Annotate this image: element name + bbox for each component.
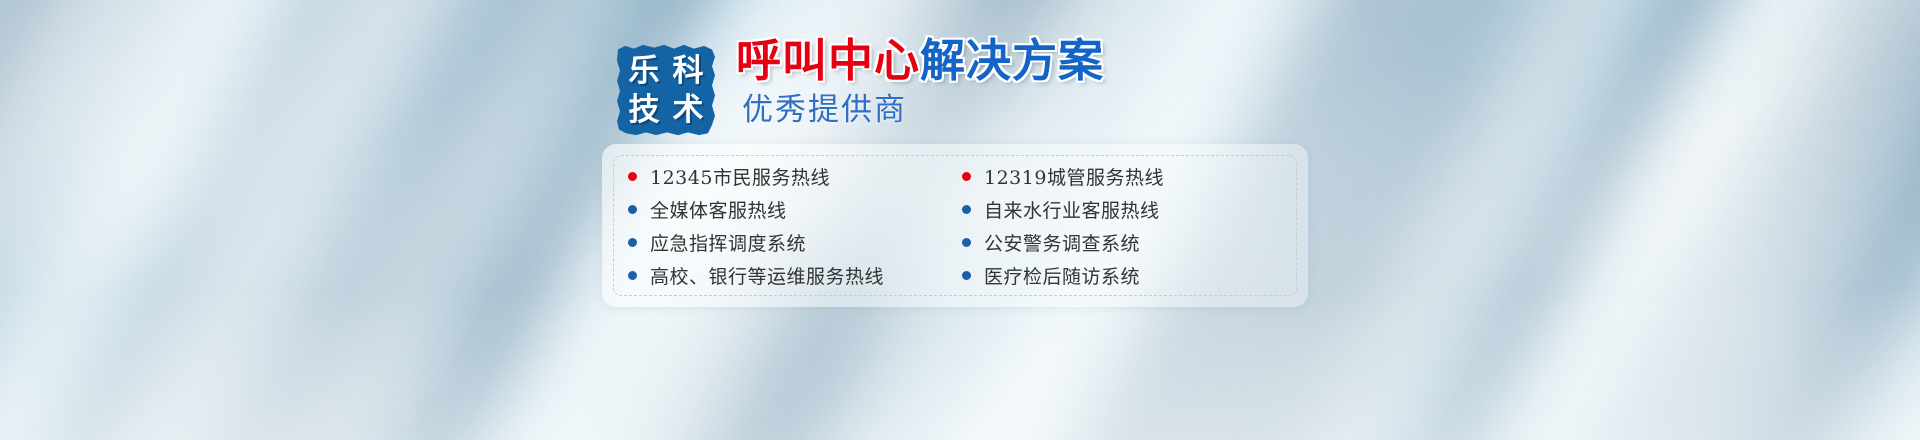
headline-highlight: 呼叫中心	[736, 34, 920, 87]
logo-char-1: 乐	[629, 56, 660, 87]
bullet-icon	[628, 172, 637, 181]
list-item[interactable]: 自来水行业客服热线	[962, 193, 1296, 226]
bullet-icon	[962, 205, 971, 214]
bullet-icon	[628, 205, 637, 214]
logo-characters: 乐 科 技 术	[616, 44, 716, 136]
list-item[interactable]: 应急指挥调度系统	[628, 226, 962, 259]
company-logo: 乐 科 技 术	[616, 44, 716, 136]
list-item[interactable]: 医疗检后随访系统	[962, 259, 1296, 292]
logo-char-4: 术	[673, 95, 704, 126]
list-item[interactable]: 高校、银行等运维服务热线	[628, 259, 962, 292]
feature-label: 公安警务调查系统	[984, 229, 1140, 256]
logo-char-3: 技	[629, 95, 660, 126]
bullet-icon	[962, 172, 971, 181]
banner-content: 乐 科 技 术 呼叫中心解决方案 优秀提供商 12345市民服务热线	[0, 0, 1920, 440]
list-item[interactable]: 12345市民服务热线	[628, 160, 962, 193]
feature-label: 高校、银行等运维服务热线	[650, 262, 884, 289]
banner-titles: 呼叫中心解决方案 优秀提供商	[736, 38, 1104, 126]
banner-headline: 呼叫中心解决方案	[736, 38, 1104, 83]
feature-list: 12345市民服务热线 12319城管服务热线 全媒体客服热线 自来水行业客服热…	[613, 155, 1297, 296]
feature-label: 自来水行业客服热线	[984, 196, 1160, 223]
banner-subheadline: 优秀提供商	[742, 95, 1104, 126]
feature-label: 医疗检后随访系统	[984, 262, 1140, 289]
feature-label: 全媒体客服热线	[650, 196, 787, 223]
feature-label: 12345市民服务热线	[650, 163, 830, 190]
banner-header: 乐 科 技 术 呼叫中心解决方案 优秀提供商	[616, 38, 1104, 136]
promo-banner: 乐 科 技 术 呼叫中心解决方案 优秀提供商 12345市民服务热线	[0, 0, 1920, 440]
bullet-icon	[628, 271, 637, 280]
list-item[interactable]: 全媒体客服热线	[628, 193, 962, 226]
logo-char-2: 科	[673, 56, 704, 87]
headline-rest: 解决方案	[920, 34, 1104, 87]
feature-label: 12319城管服务热线	[984, 163, 1164, 190]
list-item[interactable]: 12319城管服务热线	[962, 160, 1296, 193]
feature-panel: 12345市民服务热线 12319城管服务热线 全媒体客服热线 自来水行业客服热…	[602, 144, 1308, 307]
bullet-icon	[628, 238, 637, 247]
bullet-icon	[962, 271, 971, 280]
list-item[interactable]: 公安警务调查系统	[962, 226, 1296, 259]
feature-label: 应急指挥调度系统	[650, 229, 806, 256]
bullet-icon	[962, 238, 971, 247]
